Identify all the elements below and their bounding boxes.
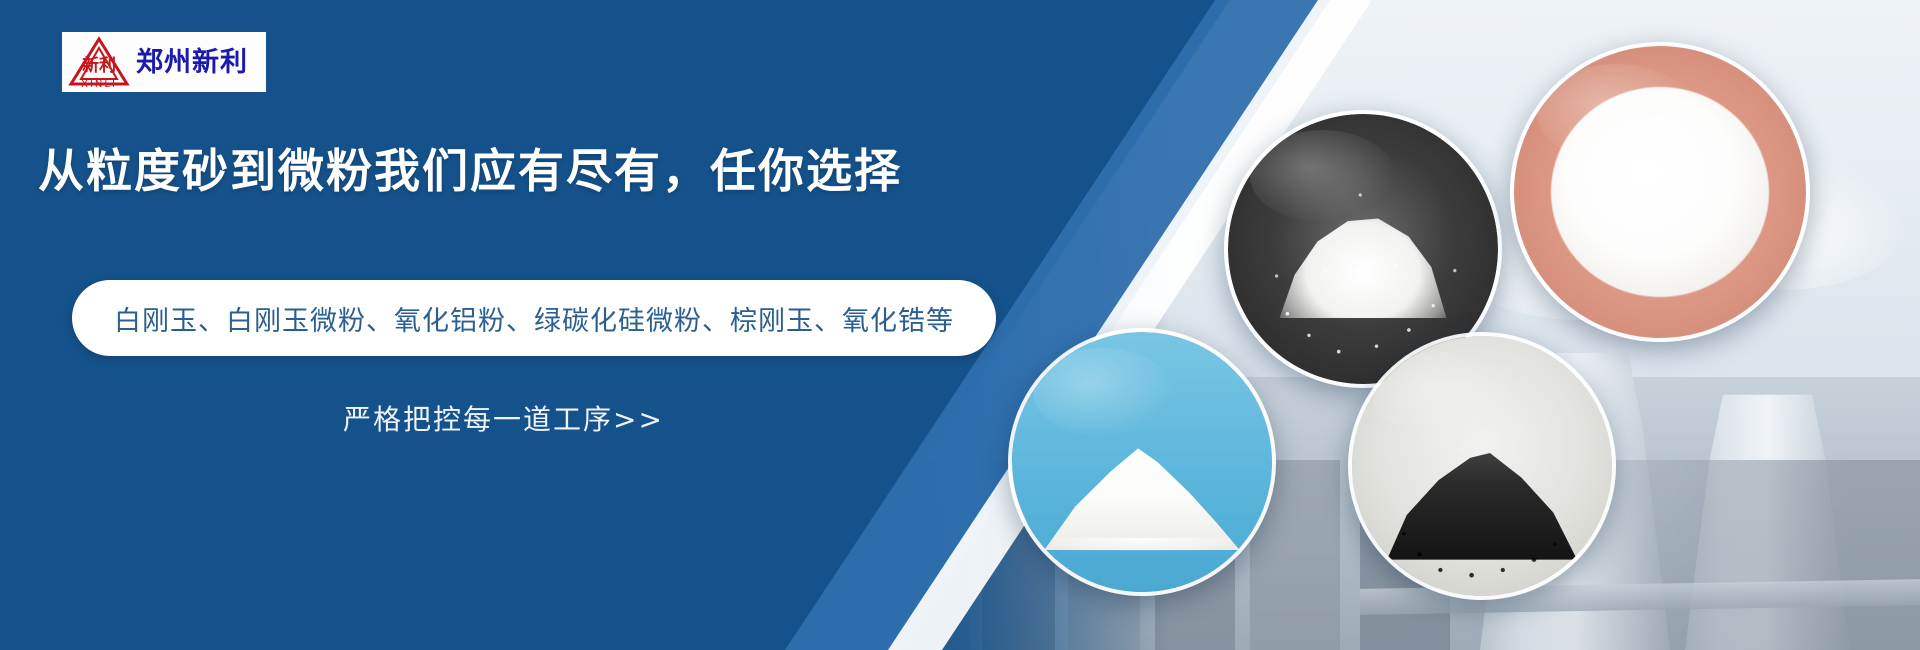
powder-mound bbox=[1551, 87, 1769, 297]
promo-banner: 新利 XINLI 郑州新利 从粒度砂到微粉我们应有尽有，任你选择 白刚玉、白刚玉… bbox=[0, 0, 1920, 650]
black-silicon-carbide-grit bbox=[1348, 332, 1616, 600]
page-title: 从粒度砂到微粉我们应有尽有，任你选择 bbox=[38, 146, 902, 197]
svg-text:XINLI: XINLI bbox=[81, 79, 117, 89]
white-powder-cone-on-blue bbox=[1008, 328, 1276, 596]
photo-gloss bbox=[1033, 348, 1173, 436]
powder-cone bbox=[1044, 434, 1240, 550]
photo-inner bbox=[1514, 46, 1806, 338]
product-list-text: 白刚玉、白刚玉微粉、氧化铝粉、绿碳化硅微粉、棕刚玉、氧化锆等 bbox=[114, 299, 954, 338]
xinli-triangle-mark-icon: 新利 XINLI bbox=[68, 35, 130, 89]
tagline-link[interactable]: 严格把控每一道工序>> bbox=[343, 398, 664, 438]
photo-inner bbox=[1352, 336, 1612, 596]
white-micro-powder-on-pink-dish bbox=[1510, 42, 1810, 342]
logo-wordmark: 郑州新利 bbox=[136, 49, 248, 76]
svg-text:新利: 新利 bbox=[82, 55, 116, 76]
photo-inner bbox=[1012, 332, 1272, 592]
grain-speckles bbox=[1352, 336, 1612, 596]
product-list-pill: 白刚玉、白刚玉微粉、氧化铝粉、绿碳化硅微粉、棕刚玉、氧化锆等 bbox=[72, 280, 996, 356]
company-logo[interactable]: 新利 XINLI 郑州新利 bbox=[62, 32, 266, 92]
